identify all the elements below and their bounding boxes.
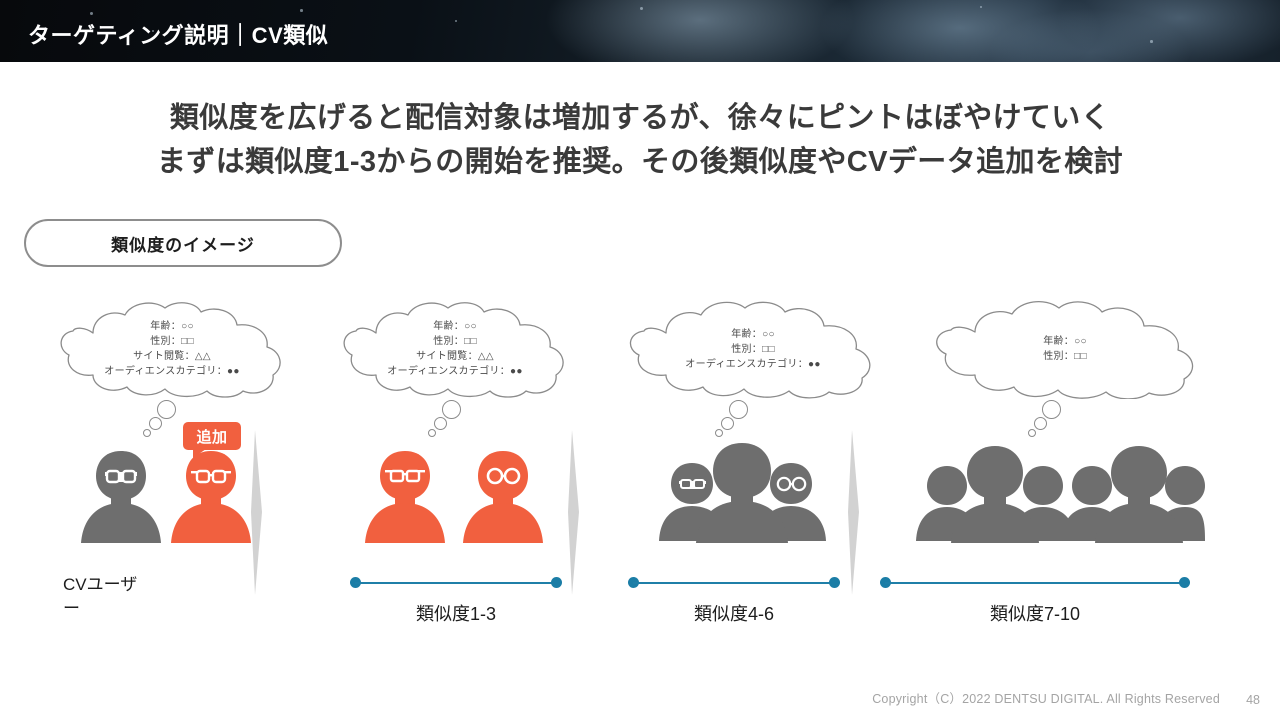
bubble-line: サイト閲覧：△△: [416, 349, 494, 364]
thought-trail-3: [715, 400, 755, 440]
header-texture-speck: [980, 6, 982, 8]
headline-line-2: まずは類似度1-3からの開始を推奨。その後類似度やCVデータ追加を検討: [0, 140, 1280, 184]
bubble-line: オーディエンスカテゴリ：●●: [104, 364, 239, 379]
group-divider: [243, 430, 269, 600]
thought-trail-1: [143, 400, 183, 440]
people-cluster-a: [916, 446, 1076, 543]
thought-bubble-1-text: 年齢：○○ 性別：□□ サイト閲覧：△△ オーディエンスカテゴリ：●●: [49, 299, 295, 399]
thought-trail-4: [1028, 400, 1068, 440]
person-orange-glasses: [365, 451, 445, 543]
thought-trail-2: [428, 400, 468, 440]
range-line-4-6: [628, 577, 840, 589]
caption-line-2: ー: [63, 597, 183, 621]
thought-bubble-1: 年齢：○○ 性別：□□ サイト閲覧：△△ オーディエンスカテゴリ：●●: [49, 299, 295, 399]
person-gray-glasses: [81, 451, 161, 543]
caption-similarity-4-6: 類似度4-6: [620, 602, 848, 626]
range-dot-right: [1179, 577, 1190, 588]
bubble-line: 性別：□□: [433, 334, 477, 349]
add-badge: 追加: [183, 422, 241, 450]
caption-cv-user: CVユーザ ー: [63, 573, 183, 621]
range-bar: [355, 582, 557, 584]
page-number: 48: [1246, 693, 1260, 707]
section-label-text: 類似度のイメージ: [111, 231, 255, 256]
range-line-7-10: [880, 577, 1190, 589]
headline-line-1: 類似度を広げると配信対象は増加するが、徐々にピントはぼやけていく: [0, 96, 1280, 140]
range-dot-right: [829, 577, 840, 588]
range-bar: [885, 582, 1185, 584]
range-bar: [633, 582, 835, 584]
bubble-line: 性別：□□: [731, 342, 775, 357]
thought-bubble-3: 年齢：○○ 性別：□□ オーディエンスカテゴリ：●●: [618, 299, 888, 399]
slide-header: ターゲティング説明｜CV類似: [0, 0, 1280, 62]
thought-bubble-2-text: 年齢：○○ 性別：□□ サイト閲覧：△△ オーディエンスカテゴリ：●●: [332, 299, 578, 399]
person-orange-glasses: [171, 451, 251, 543]
range-line-1-3: [350, 577, 562, 589]
people-group-3: [635, 443, 850, 543]
people-cluster-b: [1061, 446, 1205, 543]
bubble-line: サイト閲覧：△△: [133, 349, 211, 364]
people-group-4: [895, 443, 1205, 543]
section-label-pill: 類似度のイメージ: [24, 219, 342, 267]
header-texture-speck: [455, 20, 457, 22]
group-divider: [840, 430, 866, 600]
thought-bubble-4-text: 年齢：○○ 性別：□□: [925, 299, 1205, 399]
header-texture-speck: [1150, 40, 1153, 43]
add-badge-label: 追加: [196, 426, 227, 447]
similarity-diagram: 年齢：○○ 性別：□□ サイト閲覧：△△ オーディエンスカテゴリ：●● 追加: [0, 285, 1280, 655]
bubble-line: 性別：□□: [1043, 349, 1087, 364]
page-title: ターゲティング説明｜CV類似: [28, 18, 328, 50]
people-group-2: [355, 451, 565, 543]
bubble-line: オーディエンスカテゴリ：●●: [387, 364, 522, 379]
header-texture-speck: [300, 9, 303, 12]
bubble-line: オーディエンスカテゴリ：●●: [685, 357, 820, 372]
bubble-line: 年齢：○○: [433, 319, 477, 334]
thought-bubble-2: 年齢：○○ 性別：□□ サイト閲覧：△△ オーディエンスカテゴリ：●●: [332, 299, 578, 399]
bubble-line: 年齢：○○: [150, 319, 194, 334]
header-texture-speck: [90, 12, 93, 15]
headline-block: 類似度を広げると配信対象は増加するが、徐々にピントはぼやけていく まずは類似度1…: [0, 96, 1280, 184]
caption-similarity-1-3: 類似度1-3: [340, 602, 572, 626]
thought-bubble-3-text: 年齢：○○ 性別：□□ オーディエンスカテゴリ：●●: [618, 299, 888, 399]
header-texture-speck: [640, 7, 643, 10]
bubble-line: 年齢：○○: [731, 327, 775, 342]
caption-similarity-7-10: 類似度7-10: [885, 602, 1185, 626]
bubble-line: 年齢：○○: [1043, 334, 1087, 349]
bubble-line: 性別：□□: [150, 334, 194, 349]
person-orange-round-glasses: [463, 451, 543, 543]
thought-bubble-4: 年齢：○○ 性別：□□: [925, 299, 1205, 399]
copyright-text: Copyright（C）2022 DENTSU DIGITAL. All Rig…: [872, 688, 1220, 707]
caption-line-1: CVユーザ: [63, 573, 183, 597]
group-divider: [560, 430, 586, 600]
